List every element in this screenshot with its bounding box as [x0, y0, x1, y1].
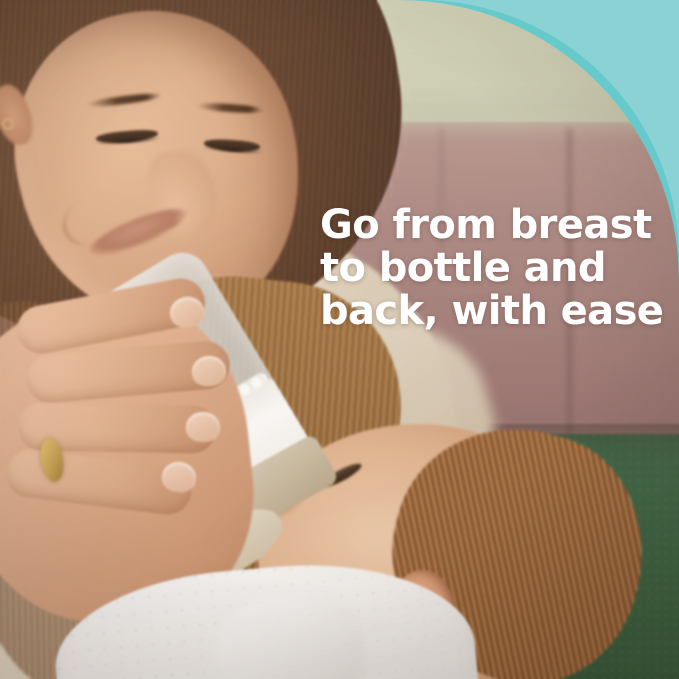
marketing-image: Go from breast to bottle and back, with … [0, 0, 679, 679]
headline-line-1: Go from breast [320, 204, 660, 247]
lifestyle-photo [0, 0, 679, 679]
headline: Go from breast to bottle and back, with … [320, 204, 660, 333]
headline-line-2: to bottle and [320, 247, 660, 290]
fingernail [185, 411, 220, 442]
earring [2, 118, 14, 130]
headline-line-3: back, with ease [320, 290, 660, 333]
